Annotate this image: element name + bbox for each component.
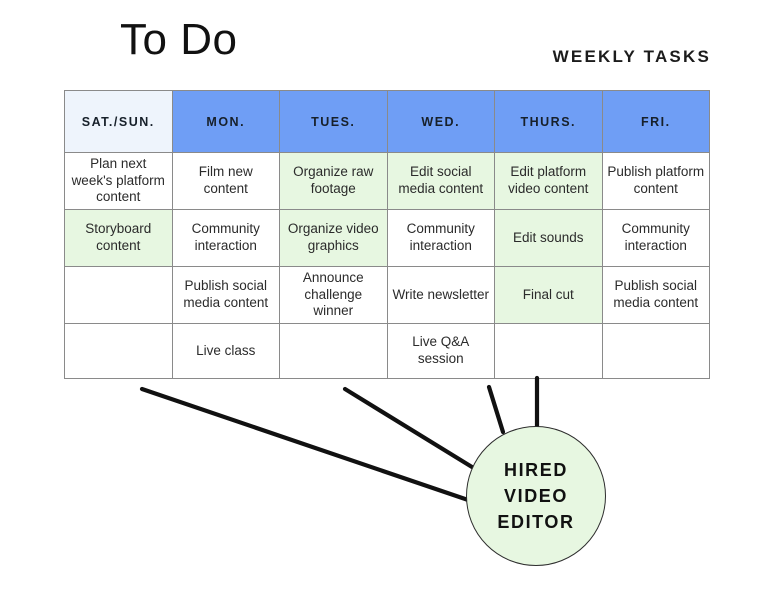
connector-line (142, 389, 474, 502)
task-cell[interactable]: Edit sounds (495, 210, 603, 267)
task-cell[interactable]: Publish social media content (602, 267, 710, 324)
column-header-fri: FRI. (602, 91, 710, 153)
node-label-line-3: EDITOR (497, 509, 574, 535)
task-cell[interactable]: Organize video graphics (280, 210, 388, 267)
table-header-row: SAT./SUN. MON. TUES. WED. THURS. FRI. (65, 91, 710, 153)
task-cell-empty[interactable] (65, 267, 173, 324)
task-cell[interactable]: Plan next week's platform content (65, 153, 173, 210)
task-cell-empty[interactable] (602, 324, 710, 379)
task-cell-empty[interactable] (495, 324, 603, 379)
column-header-satsun: SAT./SUN. (65, 91, 173, 153)
weekly-tasks-table: SAT./SUN. MON. TUES. WED. THURS. FRI. Pl… (64, 90, 710, 379)
task-cell[interactable]: Edit platform video content (495, 153, 603, 210)
table-row: Publish social media content Announce ch… (65, 267, 710, 324)
task-cell[interactable]: Community interaction (172, 210, 280, 267)
table-row: Plan next week's platform content Film n… (65, 153, 710, 210)
table-row: Live class Live Q&A session (65, 324, 710, 379)
task-cell-empty[interactable] (65, 324, 173, 379)
task-cell[interactable]: Announce challenge winner (280, 267, 388, 324)
column-header-tues: TUES. (280, 91, 388, 153)
task-cell[interactable]: Community interaction (387, 210, 495, 267)
connector-line (489, 387, 503, 432)
task-cell[interactable]: Final cut (495, 267, 603, 324)
hired-video-editor-node[interactable]: HIRED VIDEO EDITOR (466, 426, 606, 566)
node-label-line-2: VIDEO (504, 483, 568, 509)
task-cell[interactable]: Publish platform content (602, 153, 710, 210)
task-cell[interactable]: Film new content (172, 153, 280, 210)
task-cell[interactable]: Publish social media content (172, 267, 280, 324)
task-cell[interactable]: Write newsletter (387, 267, 495, 324)
table-row: Storyboard content Community interaction… (65, 210, 710, 267)
task-cell-empty[interactable] (280, 324, 388, 379)
task-cell[interactable]: Live class (172, 324, 280, 379)
column-header-wed: WED. (387, 91, 495, 153)
page-subtitle: WEEKLY TASKS (553, 48, 711, 65)
task-cell[interactable]: Live Q&A session (387, 324, 495, 379)
task-cell[interactable]: Organize raw footage (280, 153, 388, 210)
column-header-thurs: THURS. (495, 91, 603, 153)
task-cell[interactable]: Storyboard content (65, 210, 173, 267)
task-cell[interactable]: Edit social media content (387, 153, 495, 210)
connector-line (345, 389, 472, 467)
node-label-line-1: HIRED (504, 457, 568, 483)
column-header-mon: MON. (172, 91, 280, 153)
task-cell[interactable]: Community interaction (602, 210, 710, 267)
page-title: To Do (120, 18, 237, 62)
